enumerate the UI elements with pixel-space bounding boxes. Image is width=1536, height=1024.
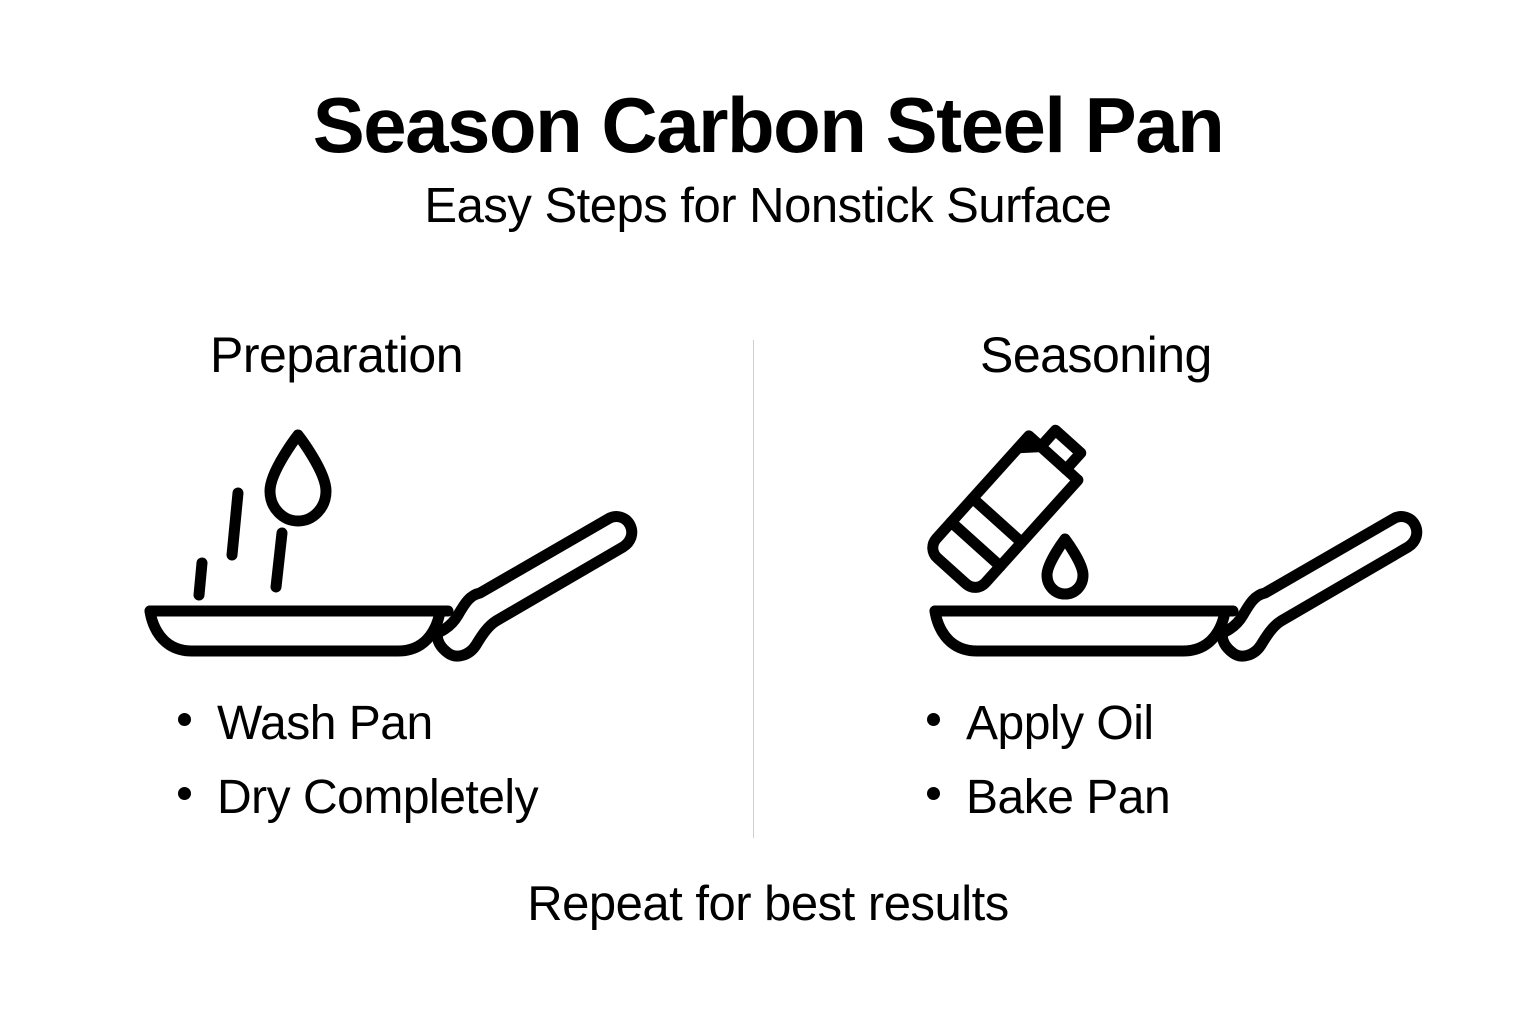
list-item: Wash Pan bbox=[178, 700, 778, 774]
oil-pan-illustration bbox=[925, 415, 1425, 665]
bullet-list-preparation: Wash Pan Dry Completely bbox=[178, 700, 778, 848]
bullet-label: Bake Pan bbox=[966, 774, 1170, 822]
column-heading-seasoning: Seasoning bbox=[980, 330, 1212, 380]
list-item: Bake Pan bbox=[927, 774, 1527, 848]
column-heading-preparation: Preparation bbox=[210, 330, 463, 380]
oil-bottle-icon bbox=[927, 420, 1092, 593]
bullet-label: Apply Oil bbox=[966, 700, 1154, 748]
bullet-label: Wash Pan bbox=[217, 700, 433, 748]
page-title: Season Carbon Steel Pan bbox=[0, 86, 1536, 164]
pan-handle bbox=[1222, 517, 1417, 656]
pan-with-oil-bottle-icon bbox=[925, 415, 1435, 675]
pan-handle bbox=[437, 517, 632, 656]
column-seasoning: Seasoning bbox=[885, 330, 1505, 890]
header: Season Carbon Steel Pan Easy Steps for N… bbox=[0, 86, 1536, 231]
bullet-dot-icon bbox=[927, 713, 940, 726]
page-subtitle: Easy Steps for Nonstick Surface bbox=[0, 182, 1536, 231]
oil-droplet-icon bbox=[1047, 539, 1083, 594]
water-droplet-icon bbox=[270, 435, 326, 521]
list-item: Dry Completely bbox=[178, 774, 778, 848]
water-splash-dash-long bbox=[232, 493, 238, 555]
water-splash-dash-medium bbox=[276, 533, 282, 587]
bullet-dot-icon bbox=[927, 787, 940, 800]
pan-bowl bbox=[150, 611, 440, 651]
footer-note: Repeat for best results bbox=[0, 880, 1536, 929]
bullet-label: Dry Completely bbox=[217, 774, 538, 822]
water-splash-dash-short bbox=[199, 563, 202, 595]
pan-with-water-droplet-icon bbox=[140, 415, 650, 675]
column-preparation: Preparation Wash Pan bbox=[140, 330, 760, 890]
bullet-dot-icon bbox=[178, 787, 191, 800]
infographic-poster: Season Carbon Steel Pan Easy Steps for N… bbox=[0, 0, 1536, 1024]
footer: Repeat for best results bbox=[0, 880, 1536, 929]
bullet-list-seasoning: Apply Oil Bake Pan bbox=[927, 700, 1527, 848]
water-pan-illustration bbox=[140, 415, 640, 665]
list-item: Apply Oil bbox=[927, 700, 1527, 774]
bullet-dot-icon bbox=[178, 713, 191, 726]
pan-bowl bbox=[935, 611, 1225, 651]
